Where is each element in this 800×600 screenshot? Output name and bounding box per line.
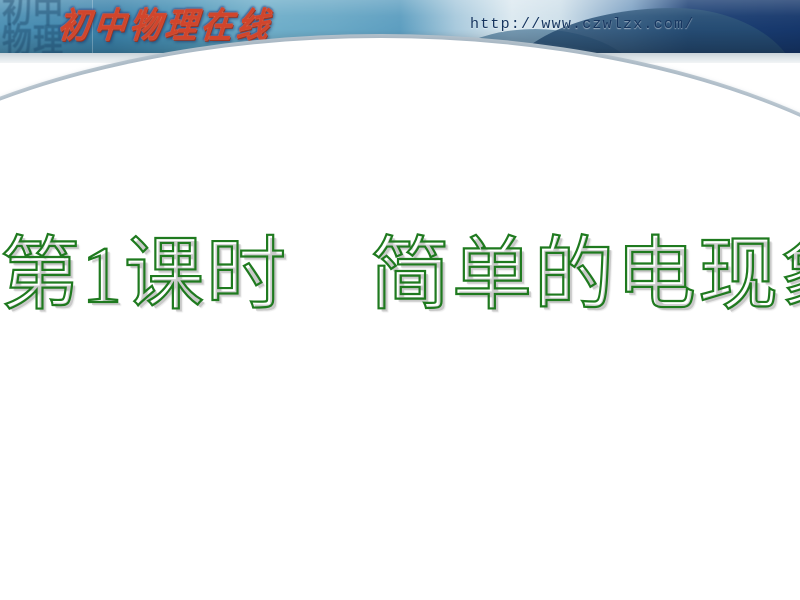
slide-title-container: 第1课时 简单的电现象 — [0, 228, 800, 324]
presentation-slide: 初中 物理 初中物理在线 http://www.czwlzx.com/ 第1课时… — [0, 0, 800, 600]
site-url-text[interactable]: http://www.czwlzx.com/ — [470, 16, 694, 33]
slide-title: 第1课时 简单的电现象 — [0, 228, 800, 324]
site-logo-text[interactable]: 初中物理在线 — [56, 7, 274, 45]
